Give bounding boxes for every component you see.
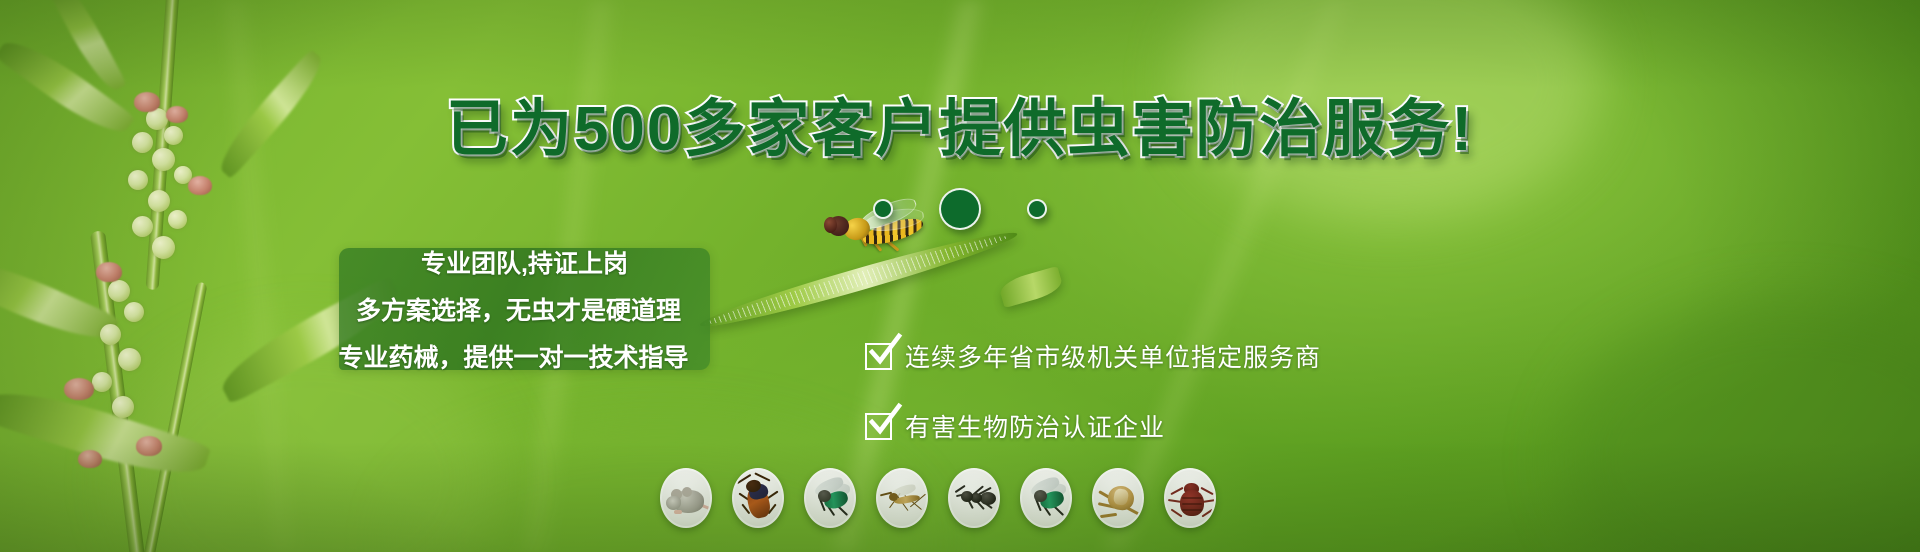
pest-control-hero-banner: 已为500多家客户提供虫害防治服务! 专业团队,持证上岗 多方案选择，无虫才是硬… [0,0,1920,552]
vignette-overlay [0,0,1920,552]
